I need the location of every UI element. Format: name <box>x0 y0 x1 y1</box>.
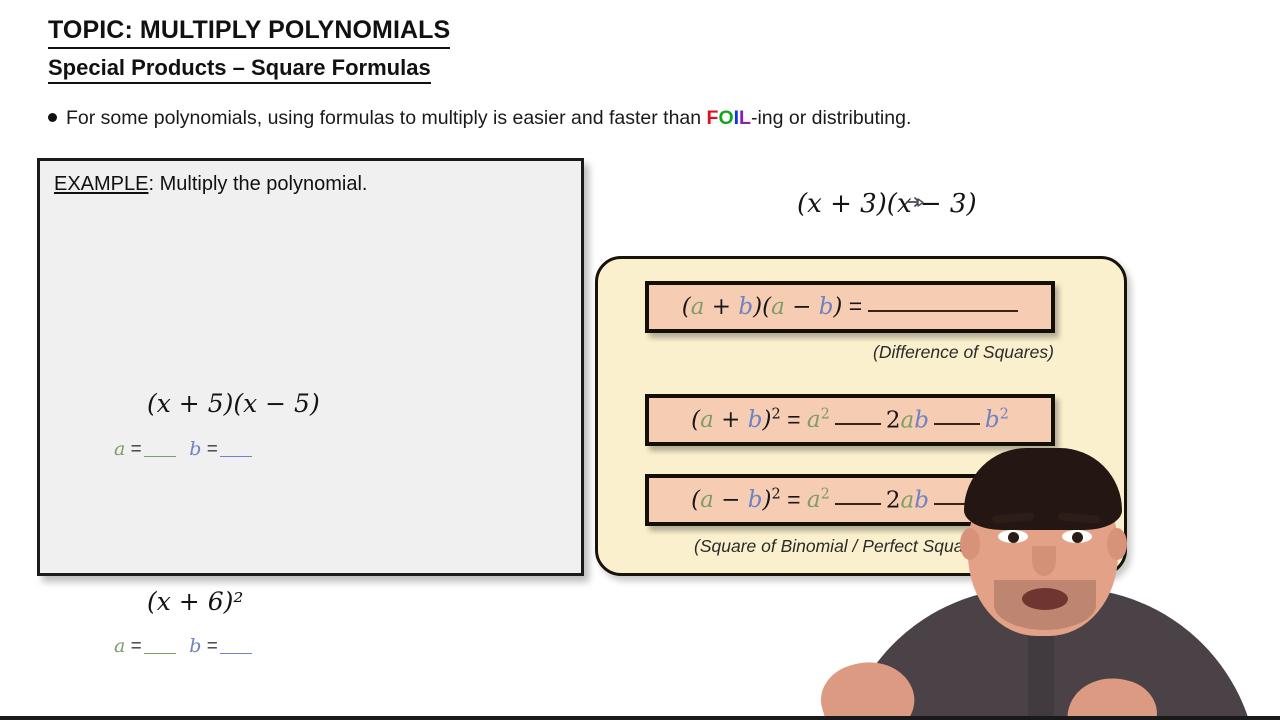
answer-blank-a-2[interactable] <box>144 653 176 654</box>
presenter-shirt-placket <box>1028 615 1054 720</box>
bullet-dot-icon <box>48 113 57 122</box>
formula-text-3: (a − b)2 = a22abb2 <box>691 488 1009 513</box>
presenter-mouth <box>1022 588 1068 610</box>
bullet-point: For some polynomials, using formulas to … <box>48 106 911 131</box>
example-box: EXAMPLE: Multiply the polynomial. (x + 5… <box>37 158 584 576</box>
formula-equals-1: = <box>849 293 862 319</box>
variable-b-label-2: b <box>189 635 201 657</box>
foil-letter-l: L <box>739 107 751 129</box>
formula-equals-3: = <box>787 486 800 512</box>
formula-sign-blank-2a[interactable] <box>835 423 881 425</box>
page-title: TOPIC: MULTIPLY POLYNOMIALS <box>48 16 450 49</box>
page-subtitle: Special Products – Square Formulas <box>48 55 431 84</box>
formula-box-square-of-sum: (a + b)2 = a22abb2 <box>645 394 1055 446</box>
slide-canvas: TOPIC: MULTIPLY POLYNOMIALS Special Prod… <box>0 0 1280 720</box>
formula-box-difference-of-squares: (a + b)(a − b) = <box>645 281 1055 333</box>
formula-sign-blank-3a[interactable] <box>835 503 881 505</box>
answer-blank-a-1[interactable] <box>144 456 176 457</box>
example-heading: EXAMPLE: Multiply the polynomial. <box>54 173 367 196</box>
formula-sign-blank-2b[interactable] <box>934 423 980 425</box>
example-ab-line-2: a = b = <box>114 635 255 658</box>
variable-b-label-1: b <box>189 438 201 460</box>
equals-sign-a-2: = <box>131 636 142 657</box>
example-expression-1: (x + 5)(x − 5) <box>147 389 320 418</box>
formula-sign-blank-3b[interactable] <box>934 503 980 505</box>
presenter-torso <box>838 588 1258 720</box>
bullet-text-before: For some polynomials, using formulas to … <box>66 107 707 129</box>
equals-sign-a-1: = <box>131 439 142 460</box>
example-expression-2: (x + 6)² <box>147 587 243 616</box>
foil-letter-o: O <box>718 107 733 129</box>
bullet-text-after: -ing or distributing. <box>751 107 911 129</box>
equals-sign-b-2: = <box>207 636 218 657</box>
formula-equals-2: = <box>787 406 800 432</box>
example-label: EXAMPLE <box>54 173 148 195</box>
example-ab-line-1: a = b = <box>114 438 255 461</box>
formula-box-square-of-difference: (a − b)2 = a22abb2 <box>645 474 1055 526</box>
equals-sign-b-1: = <box>207 439 218 460</box>
variable-a-label-2: a <box>114 635 125 657</box>
presenter-beard <box>994 580 1096 630</box>
presenter-hand-left <box>818 651 923 720</box>
presenter-hand-right <box>1061 670 1163 720</box>
worked-expression: (x + 3)(x − 3) <box>797 189 977 219</box>
answer-blank-b-2[interactable] <box>220 653 252 654</box>
variable-a-label-1: a <box>114 438 125 460</box>
formula-caption-difference-of-squares: (Difference of Squares) <box>873 342 1054 363</box>
bottom-edge-strip <box>0 716 1280 720</box>
formula-caption-square-of-binomial: (Square of Binomial / Perfect Square Tri… <box>694 536 1060 557</box>
formula-answer-blank-1[interactable] <box>868 310 1018 312</box>
formula-panel: (a + b)(a − b) = (Difference of Squares)… <box>595 256 1127 576</box>
formula-text-2: (a + b)2 = a22abb2 <box>691 408 1009 433</box>
answer-blank-b-1[interactable] <box>220 456 252 457</box>
formula-text-1: (a + b)(a − b) = <box>682 295 1018 319</box>
foil-letter-f: F <box>707 107 719 129</box>
example-instruction: : Multiply the polynomial. <box>148 173 367 195</box>
